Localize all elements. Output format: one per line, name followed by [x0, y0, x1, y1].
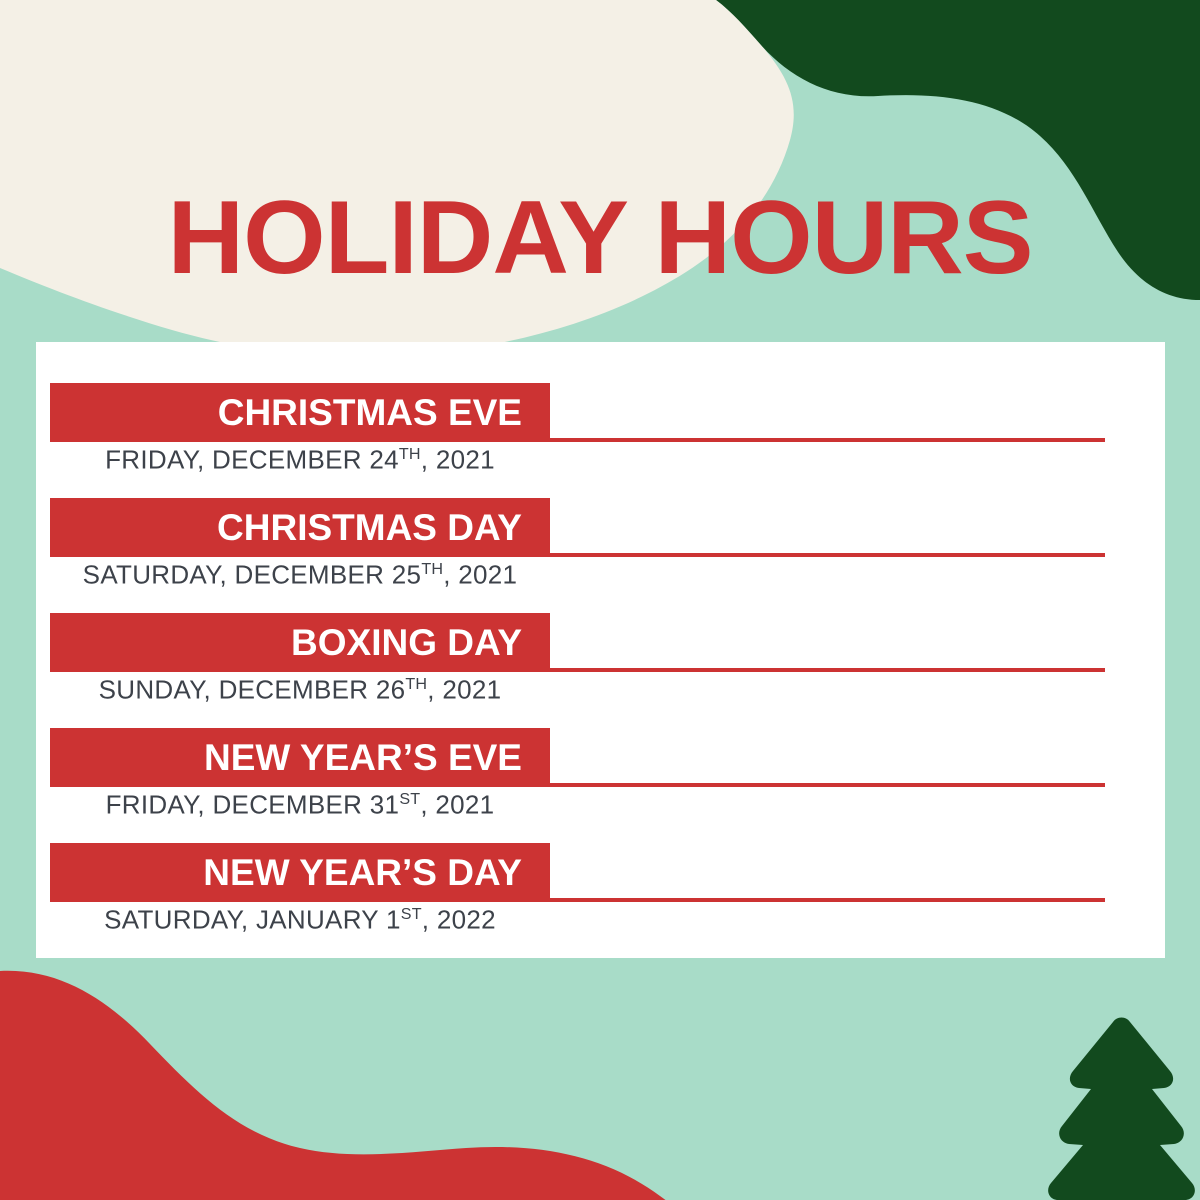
schedule-row: NEW YEAR’S EVE FRIDAY, DECEMBER 31ST, 20…	[36, 687, 1165, 802]
schedule-card: CHRISTMAS EVE FRIDAY, DECEMBER 24TH, 202…	[36, 342, 1165, 958]
hours-write-in-rule	[550, 668, 1105, 672]
hours-write-in-rule	[550, 783, 1105, 787]
date-weekday: SATURDAY,	[104, 905, 248, 935]
date-month: JANUARY	[256, 905, 379, 935]
holiday-name: NEW YEAR’S EVE	[204, 739, 522, 776]
schedule-row: NEW YEAR’S DAY SATURDAY, JANUARY 1ST, 20…	[36, 802, 1165, 917]
holiday-name-plate: CHRISTMAS DAY	[50, 498, 550, 557]
holiday-name-plate: BOXING DAY	[50, 613, 550, 672]
holiday-name-plate: NEW YEAR’S DAY	[50, 843, 550, 902]
holiday-name: BOXING DAY	[291, 624, 522, 661]
date-year: 2022	[437, 905, 496, 935]
schedule-row: CHRISTMAS EVE FRIDAY, DECEMBER 24TH, 202…	[36, 342, 1165, 457]
hours-write-in-rule	[550, 553, 1105, 557]
date-ordinal: ST	[401, 905, 422, 923]
page-title: HOLIDAY HOURS	[0, 186, 1200, 290]
holiday-name-plate: NEW YEAR’S EVE	[50, 728, 550, 787]
holiday-name: CHRISTMAS EVE	[218, 394, 522, 431]
schedule-row: BOXING DAY SUNDAY, DECEMBER 26TH, 2021	[36, 572, 1165, 687]
schedule-row: CHRISTMAS DAY SATURDAY, DECEMBER 25TH, 2…	[36, 457, 1165, 572]
date-day: 1	[386, 905, 401, 935]
holiday-hours-poster: HOLIDAY HOURS CHRISTMAS EVE FRIDAY, DECE…	[0, 0, 1200, 1200]
hours-write-in-rule	[550, 438, 1105, 442]
holiday-name: NEW YEAR’S DAY	[203, 854, 522, 891]
hours-write-in-rule	[550, 898, 1105, 902]
holiday-name-plate: CHRISTMAS EVE	[50, 383, 550, 442]
holiday-name: CHRISTMAS DAY	[217, 509, 522, 546]
holiday-date: SATURDAY, JANUARY 1ST, 2022	[50, 906, 550, 933]
